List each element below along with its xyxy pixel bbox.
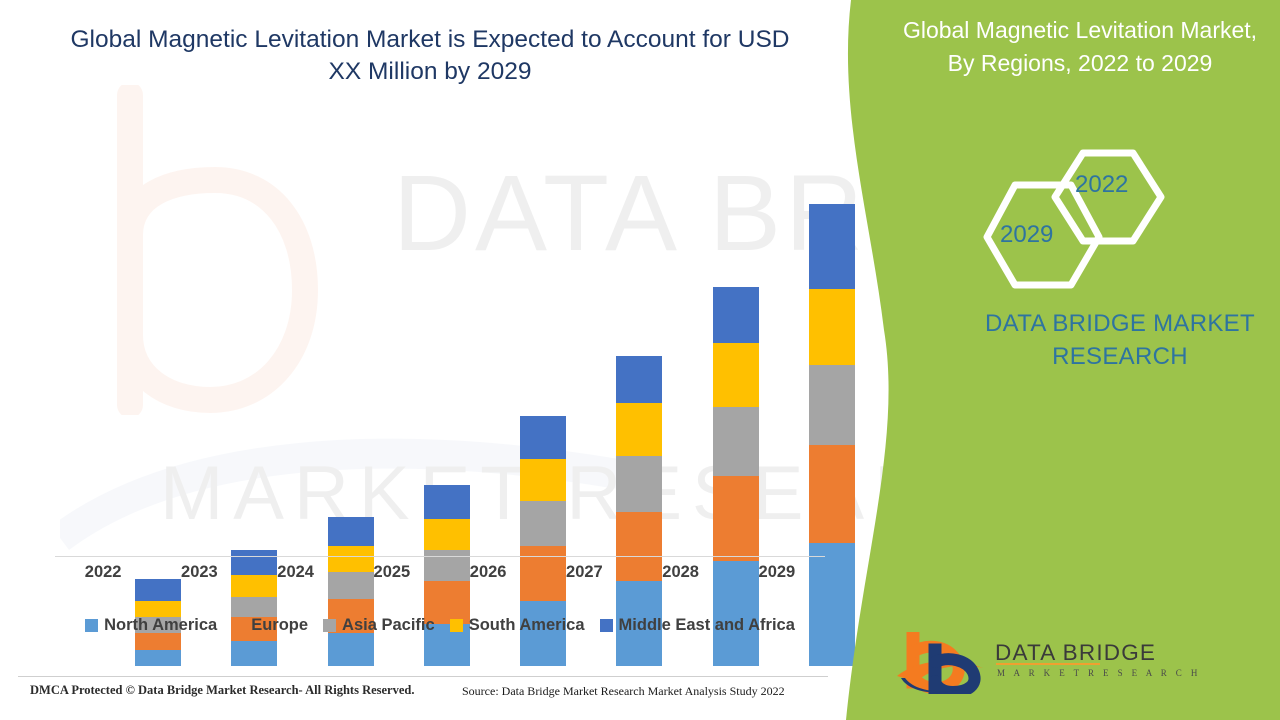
hexagon-badge-start-year: 2022: [1075, 171, 1128, 199]
logo-underline: [996, 663, 1100, 665]
infographic-page: DATA BRIDGE MARKET RESEARCH Global Magne…: [0, 0, 1280, 720]
panel-brand-name: DATA BRIDGE MARKET RESEARCH: [960, 308, 1280, 373]
panel-title: Global Magnetic Levitation Market, By Re…: [890, 14, 1270, 79]
hexagon-badge-end-year: 2029: [1000, 221, 1053, 249]
hexagon-badges: 2022 2029: [975, 145, 1185, 290]
hexagon-outlines-icon: [975, 145, 1185, 290]
logo-subtitle: M A R K E T R E S E A R C H: [997, 668, 1201, 678]
